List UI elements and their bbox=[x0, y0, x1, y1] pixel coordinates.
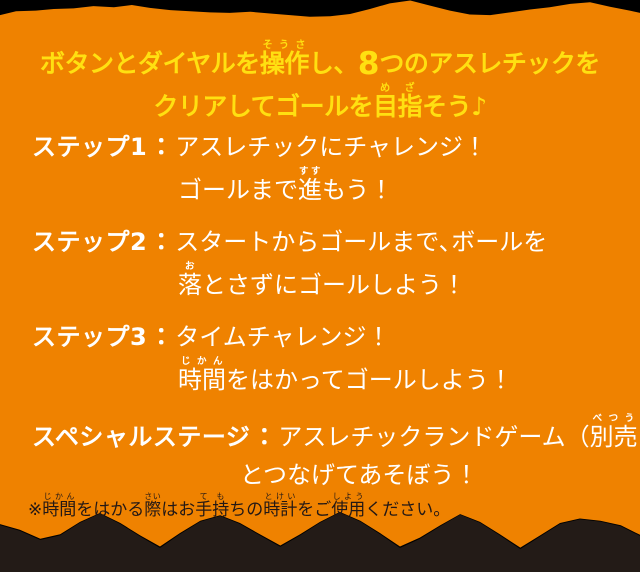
footnote-ruby-tokei: 時計とけい bbox=[263, 500, 297, 520]
footnote-text-2: はお bbox=[161, 500, 195, 520]
step-2-kanji-otosu: 落 bbox=[178, 271, 202, 299]
special-text-3: とつなげてあそぼう！ bbox=[240, 461, 478, 489]
special-line-1: スペシャルステージ：アスレチックランドゲーム（別売べつうり） bbox=[0, 413, 640, 456]
special-colon: ： bbox=[250, 423, 278, 451]
step-1-text-1: アスレチックにチャレンジ！ bbox=[175, 133, 487, 161]
step-item-special: スペシャルステージ：アスレチックランドゲーム（別売べつうり） とつなげてあそぼう… bbox=[0, 413, 640, 494]
footnote-ruby-sai: 際さい bbox=[144, 500, 161, 520]
step-1-line-2: ゴールまで進すすもう！ bbox=[0, 166, 640, 209]
steps-list: ステップ1：アスレチックにチャレンジ！ ゴールまで進すすもう！ ステップ2：スタ… bbox=[0, 128, 640, 508]
step-1-line-1: ステップ1：アスレチックにチャレンジ！ bbox=[0, 128, 640, 166]
headline-line-2: クリアしてゴールを目指めざそう♪ bbox=[0, 83, 640, 126]
step-3-colon: ： bbox=[147, 323, 175, 351]
step-3-line-1: ステップ3：タイムチャレンジ！ bbox=[0, 318, 640, 356]
step-3-text-1: タイムチャレンジ！ bbox=[175, 323, 390, 351]
footnote-ruby-jikan: 時間じかん bbox=[42, 500, 76, 520]
footnote-kanji-tokei: 時計 bbox=[263, 500, 297, 520]
headline-rt-mezasu: めざ bbox=[373, 83, 422, 94]
special-text-1: アスレチックランドゲーム（ bbox=[278, 423, 589, 451]
step-3-ruby-jikan: 時間じかん bbox=[178, 366, 226, 394]
headline-rt-sousa: そうさ bbox=[260, 40, 309, 51]
step-item-2: ステップ2：スタートからゴールまで､ボールを 落おとさずにゴールしよう！ bbox=[0, 223, 640, 304]
step-2-rt-otosu: お bbox=[178, 261, 202, 272]
step-2-colon: ： bbox=[147, 228, 175, 256]
special-kanji-betsuuri: 別売 bbox=[590, 423, 638, 451]
headline-text-6: そう♪ bbox=[422, 92, 486, 121]
step-1-colon: ： bbox=[147, 133, 175, 161]
footnote-kanji-shiyou: 使用 bbox=[331, 500, 365, 520]
panel-content: ボタンとダイヤルを操作そうさし、8つのアスレチックを クリアしてゴールを目指めざ… bbox=[0, 0, 640, 572]
step-2-text-2: とさずにゴールしよう！ bbox=[202, 271, 466, 299]
footnote-rt-temochi: ても bbox=[195, 492, 229, 501]
step-1-label: ステップ1 bbox=[32, 133, 147, 161]
headline-kanji-mezasu: 目指 bbox=[373, 92, 422, 121]
step-1-kanji-susumu: 進 bbox=[298, 176, 322, 204]
headline-ruby-mezasou: 目指めざ bbox=[373, 92, 422, 121]
footnote-text-1: をはかる bbox=[76, 500, 144, 520]
headline-text-4: クリアして bbox=[153, 92, 275, 121]
footnote-ruby-temochi: 手持ても bbox=[195, 500, 229, 520]
footnote-ruby-shiyou: 使用しよう bbox=[331, 500, 365, 520]
step-2-ruby-otosu: 落お bbox=[178, 271, 202, 299]
headline-ruby-sousa: 操作そうさ bbox=[260, 49, 309, 78]
footnote-text-3: ちの bbox=[229, 500, 263, 520]
step-item-1: ステップ1：アスレチックにチャレンジ！ ゴールまで進すすもう！ bbox=[0, 128, 640, 209]
step-2-line-2: 落おとさずにゴールしよう！ bbox=[0, 261, 640, 304]
step-2-line-1: ステップ2：スタートからゴールまで､ボールを bbox=[0, 223, 640, 261]
step-1-ruby-susumou: 進すす bbox=[298, 176, 322, 204]
footnote-text-4: をご bbox=[297, 500, 331, 520]
instruction-panel: ボタンとダイヤルを操作そうさし、8つのアスレチックを クリアしてゴールを目指めざ… bbox=[0, 0, 640, 572]
step-2-text-1: スタートからゴールまで､ボールを bbox=[175, 228, 547, 256]
step-1-rt-susumu: すす bbox=[298, 166, 322, 177]
footnote-rt-jikan: じかん bbox=[42, 492, 76, 501]
special-rt-betsuuri: べつう bbox=[590, 413, 638, 424]
step-2-label: ステップ2 bbox=[32, 228, 147, 256]
footnote-kanji-temochi: 手持 bbox=[195, 500, 229, 520]
footnote: ※時間じかんをはかる際さいはお手持てもちの時計とけいをご使用しようください。 bbox=[28, 492, 628, 522]
footnote-kanji-sai: 際 bbox=[144, 500, 161, 520]
step-3-line-2: 時間じかんをはかってゴールしよう！ bbox=[0, 356, 640, 399]
panel-headline: ボタンとダイヤルを操作そうさし、8つのアスレチックを クリアしてゴールを目指めざ… bbox=[0, 40, 640, 126]
step-3-text-2: をはかってゴールしよう！ bbox=[226, 366, 513, 394]
special-ruby-betsuuri: 別売べつう bbox=[590, 423, 638, 451]
headline-text-2: し、 bbox=[309, 49, 358, 78]
step-1-text-3: もう！ bbox=[322, 176, 393, 204]
step-item-3: ステップ3：タイムチャレンジ！ 時間じかんをはかってゴールしよう！ bbox=[0, 318, 640, 399]
step-3-rt-jikan: じかん bbox=[178, 356, 226, 367]
step-3-label: ステップ3 bbox=[32, 323, 147, 351]
step-3-kanji-jikan: 時間 bbox=[178, 366, 226, 394]
headline-text-5: ゴールを bbox=[275, 92, 373, 121]
headline-kanji-sousa: 操作 bbox=[260, 49, 309, 78]
footnote-mark: ※ bbox=[28, 500, 42, 520]
headline-text-1: ボタンとダイヤルを bbox=[40, 49, 260, 78]
special-label: スペシャルステージ bbox=[32, 423, 250, 451]
footnote-kanji-jikan: 時間 bbox=[42, 500, 76, 520]
footnote-rt-shiyou: しよう bbox=[331, 492, 365, 501]
step-1-text-2: ゴールまで bbox=[178, 176, 298, 204]
footnote-text-5: ください。 bbox=[365, 500, 450, 520]
footnote-rt-tokei: とけい bbox=[263, 492, 297, 501]
special-line-2: とつなげてあそぼう！ bbox=[0, 456, 640, 494]
headline-line-1: ボタンとダイヤルを操作そうさし、8つのアスレチックを bbox=[0, 40, 640, 83]
headline-count-8: 8 bbox=[358, 46, 380, 82]
headline-text-3: つのアスレチックを bbox=[379, 49, 600, 78]
footnote-rt-sai: さい bbox=[144, 492, 161, 501]
